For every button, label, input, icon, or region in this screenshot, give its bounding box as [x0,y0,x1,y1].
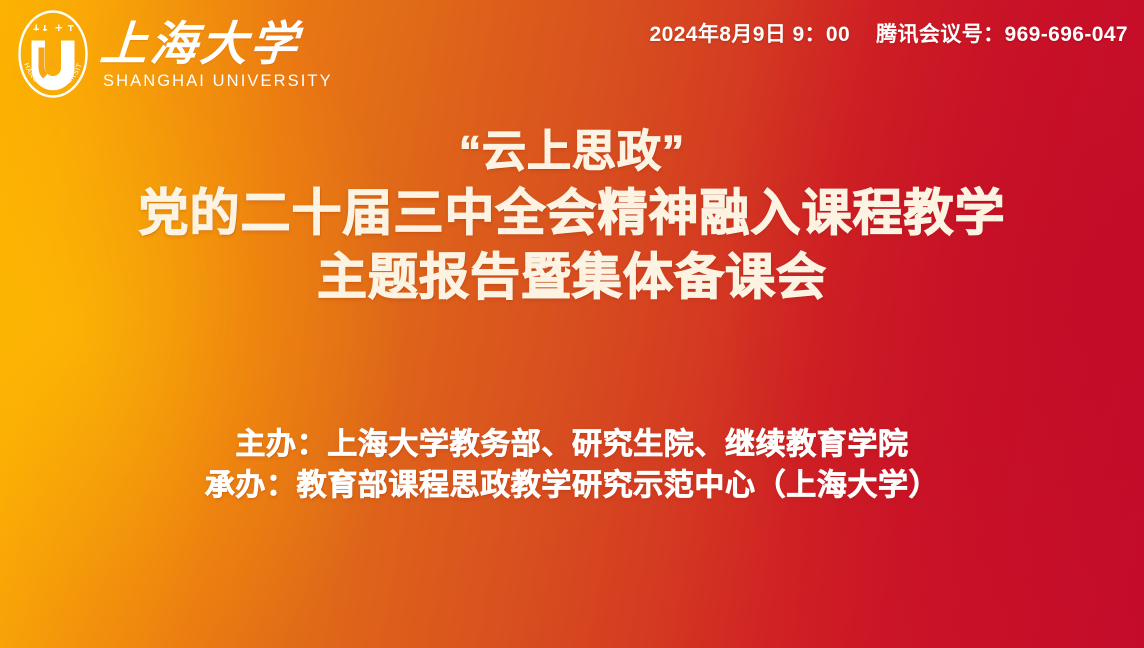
title-line-2: 党的二十届三中全会精神融入课程教学 [0,183,1144,243]
university-name-cn: 上海大学 [98,21,334,69]
meeting-datetime: 2024年8月9日 9：00 [650,18,851,48]
right-warm-glow [734,0,1144,648]
title-line-1: “云上思政” [0,126,1144,179]
meeting-id: 腾讯会议号：969-696-047 [876,18,1128,48]
university-logo: SHANGHAI UNIVERSITY 上海大学 SHANGHAI UNIVER… [14,8,333,100]
meeting-info: 2024年8月9日 9：00 腾讯会议号：969-696-047 [650,18,1128,48]
university-wordmark: 上海大学 SHANGHAI UNIVERSITY [100,17,333,92]
event-banner-slide: SHANGHAI UNIVERSITY 上海大学 SHANGHAI UNIVER… [0,0,1144,648]
university-name-en: SHANGHAI UNIVERSITY [103,72,333,91]
organizer-cohost-line: 承办：教育部课程思政教学研究示范中心（上海大学） [0,465,1144,506]
event-title: “云上思政” 党的二十届三中全会精神融入课程教学 主题报告暨集体备课会 [0,126,1144,307]
shanghai-university-emblem-icon: SHANGHAI UNIVERSITY [14,8,92,100]
title-line-3: 主题报告暨集体备课会 [0,247,1144,307]
organizer-host-line: 主办：上海大学教务部、研究生院、继续教育学院 [0,424,1144,465]
organizers: 主办：上海大学教务部、研究生院、继续教育学院 承办：教育部课程思政教学研究示范中… [0,424,1144,507]
